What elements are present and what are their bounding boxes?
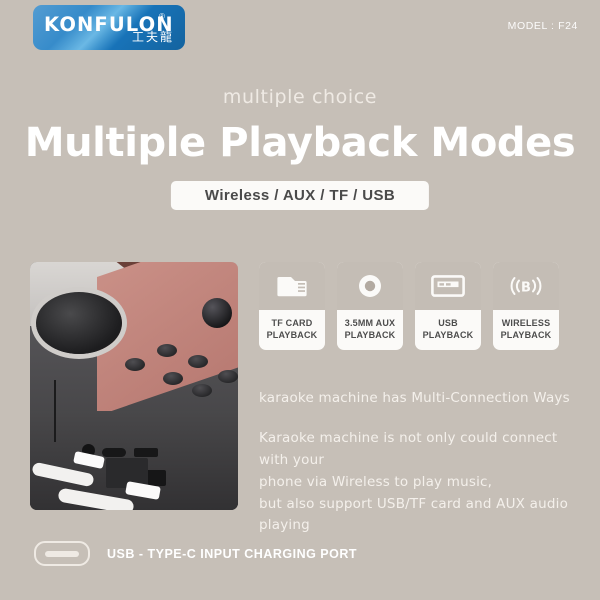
brand-logo: KONFULON ® 工夫龍: [33, 5, 185, 50]
photo-button: [163, 372, 183, 385]
feature-card-label: 3.5MM AUX PLAYBACK: [337, 310, 403, 350]
photo-button: [125, 358, 145, 371]
description-line-1: Karaoke machine is not only could connec…: [259, 428, 584, 472]
photo-button: [218, 370, 238, 383]
eyebrow-text: multiple choice: [0, 86, 600, 108]
description-line-3: but also support USB/TF card and AUX aud…: [259, 494, 584, 538]
charging-port-note: USB - TYPE-C INPUT CHARGING PORT: [34, 541, 357, 566]
page-title: Multiple Playback Modes: [0, 120, 600, 166]
charging-port-label: USB - TYPE-C INPUT CHARGING PORT: [107, 547, 357, 561]
description-line-2: phone via Wireless to play music,: [259, 472, 584, 494]
photo-tf-slot: [134, 448, 158, 457]
photo-button: [157, 344, 177, 357]
product-photo: [30, 262, 238, 510]
aux-jack-icon: [337, 262, 403, 310]
photo-usbc-port: [102, 448, 126, 457]
photo-button: [188, 355, 208, 368]
feature-card-tf[interactable]: TF CARD PLAYBACK: [259, 262, 325, 350]
photo-thin-wire: [54, 380, 56, 442]
tf-card-icon: [259, 262, 325, 310]
feature-card-label: USB PLAYBACK: [415, 310, 481, 350]
usb-type-c-icon: [34, 541, 90, 566]
registered-trademark-icon: ®: [159, 12, 165, 21]
feature-card-label: WIRELESS PLAYBACK: [493, 310, 559, 350]
brand-chinese-name: 工夫龍: [132, 28, 174, 45]
photo-volume-knob: [202, 298, 232, 328]
photo-button: [192, 384, 212, 397]
description-block: karaoke machine has Multi-Connection Way…: [259, 390, 584, 537]
product-banner: KONFULON ® 工夫龍 MODEL : F24 multiple choi…: [0, 0, 600, 600]
modes-badge: Wireless / AUX / TF / USB: [171, 181, 429, 210]
feature-card-aux[interactable]: 3.5MM AUX PLAYBACK: [337, 262, 403, 350]
feature-card-list: TF CARD PLAYBACK 3.5MM AUX PLAYBACK: [259, 262, 559, 350]
svg-text:B: B: [521, 280, 531, 295]
usb-port-icon: [415, 262, 481, 310]
model-label: MODEL : F24: [508, 20, 578, 32]
usb-type-c-bar: [45, 551, 79, 557]
feature-card-usb[interactable]: USB PLAYBACK: [415, 262, 481, 350]
bluetooth-wireless-icon: B: [493, 262, 559, 310]
feature-card-label: TF CARD PLAYBACK: [259, 310, 325, 350]
feature-card-wireless[interactable]: B WIRELESS PLAYBACK: [493, 262, 559, 350]
photo-control-pad: [36, 292, 122, 354]
description-body: Karaoke machine is not only could connec…: [259, 428, 584, 537]
description-lead: karaoke machine has Multi-Connection Way…: [259, 390, 584, 406]
